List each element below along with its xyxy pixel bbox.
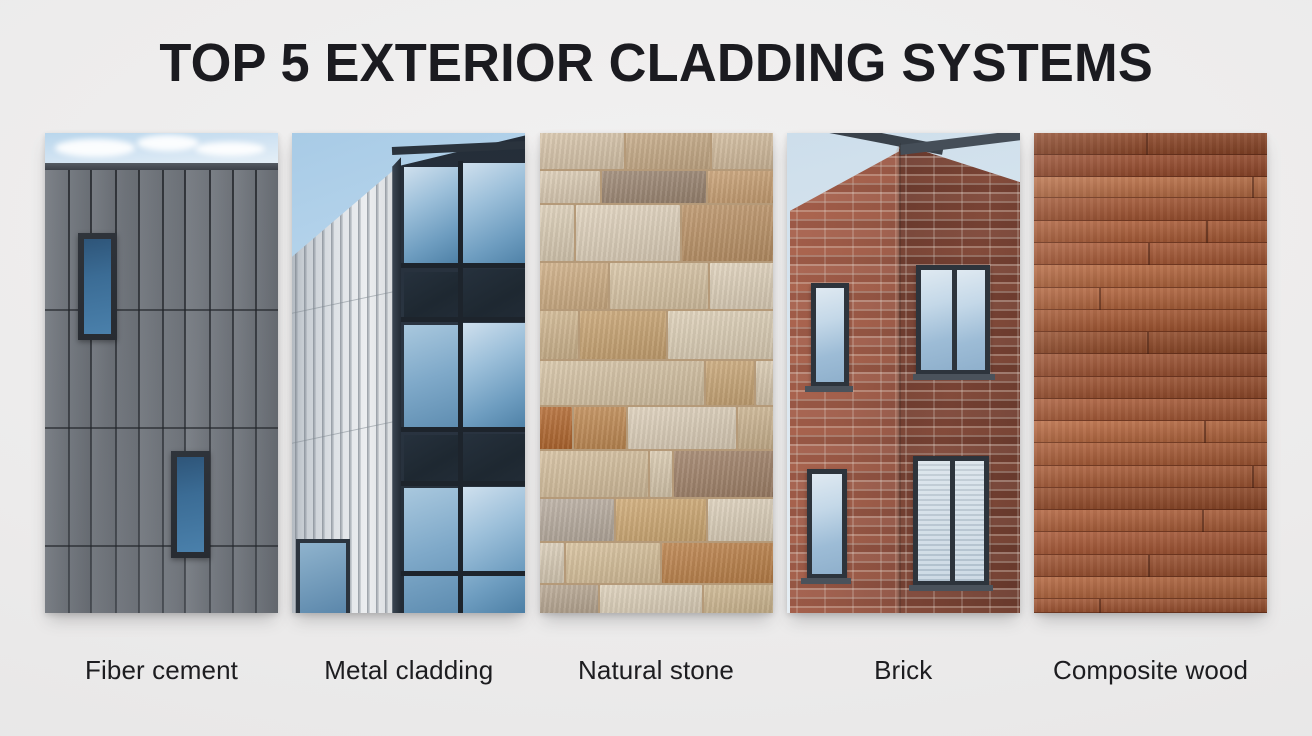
fiber-cement-image <box>45 133 278 613</box>
window-upper-left <box>78 233 117 340</box>
stone-wall <box>540 133 773 613</box>
window-left-lower <box>807 469 847 579</box>
window-right-lower <box>913 456 989 586</box>
cloud-shape <box>137 135 199 151</box>
sky-backdrop <box>45 133 278 167</box>
window-lower-right <box>171 451 210 558</box>
cladding-card-metal-cladding[interactable]: Metal cladding <box>292 133 525 613</box>
cladding-card-fiber-cement[interactable]: Fiber cement <box>45 133 278 613</box>
metal-cladding-image <box>292 133 525 613</box>
cladding-panel-row: Fiber cement <box>45 133 1267 613</box>
cloud-shape <box>195 142 265 156</box>
brick-image <box>787 133 1020 613</box>
cladding-card-brick[interactable]: Brick <box>787 133 1020 613</box>
caption-composite-wood: Composite wood <box>1004 654 1297 686</box>
wood-plank-wall <box>1034 133 1267 613</box>
window-glass <box>177 457 204 552</box>
building-corner-edge <box>392 133 401 613</box>
window-right-upper <box>916 265 990 375</box>
parapet-edge <box>45 163 278 170</box>
window-left-upper <box>811 283 849 387</box>
cladding-card-natural-stone[interactable]: Natural stone <box>540 133 773 613</box>
natural-stone-image <box>540 133 773 613</box>
window-glass <box>84 239 111 334</box>
curtain-wall-face <box>396 133 525 613</box>
building-corner-edge <box>895 133 901 613</box>
infographic-root: TOP 5 EXTERIOR CLADDING SYSTEMS <box>0 0 1312 736</box>
page-title: TOP 5 EXTERIOR CLADDING SYSTEMS <box>159 33 1153 93</box>
title-bar: TOP 5 EXTERIOR CLADDING SYSTEMS <box>0 33 1312 93</box>
metal-face-window <box>296 539 350 613</box>
composite-wood-image <box>1034 133 1267 613</box>
cladding-card-composite-wood[interactable]: Composite wood <box>1034 133 1267 613</box>
cloud-shape <box>55 139 135 157</box>
